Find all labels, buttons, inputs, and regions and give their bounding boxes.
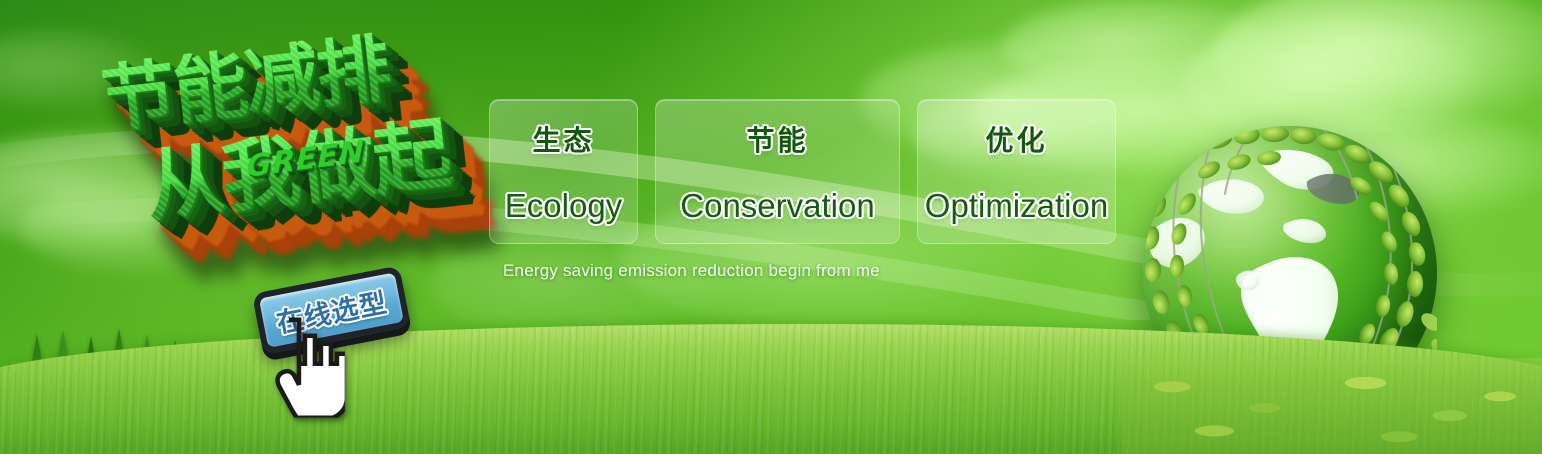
headline-english-overlay: GREEN [247, 134, 365, 185]
hero-banner: 节能减排 从我做起 GREEN 生态 Ecology 节能 Conservati… [0, 0, 1542, 454]
feature-card-cn-label: 生态 [532, 119, 594, 159]
cloud-shape [20, 180, 260, 275]
cloud-shape [0, 130, 240, 250]
feature-card-cn-label: 优化 [985, 119, 1047, 159]
feature-card-conservation[interactable]: 节能 Conservation [655, 99, 900, 244]
grass-texture [0, 324, 1542, 454]
feature-card-cn-label: 节能 [746, 119, 808, 159]
headline-line-1: 节能减排 [98, 20, 490, 137]
grass-field [0, 324, 1542, 454]
feature-card-en-label: Conservation [680, 187, 874, 225]
cloud-shape [1212, 0, 1542, 130]
hand-pointer-icon [259, 314, 345, 423]
headline-3d-artwork: 节能减排 从我做起 GREEN [84, 20, 507, 294]
feature-card-en-label: Optimization [925, 187, 1108, 225]
feature-card-ecology[interactable]: 生态 Ecology [489, 99, 638, 244]
banner-tagline: Energy saving emission reduction begin f… [503, 261, 880, 281]
feature-card-group: 生态 Ecology 节能 Conservation 优化 Optimizati… [489, 99, 1117, 244]
feature-card-en-label: Ecology [505, 187, 622, 225]
cloud-shape [0, 30, 160, 110]
cloud-shape [430, 230, 730, 340]
headline-line-2: 从我做起 [142, 110, 501, 227]
feature-card-optimization[interactable]: 优化 Optimization [917, 99, 1116, 244]
cloud-shape [1002, 0, 1282, 95]
